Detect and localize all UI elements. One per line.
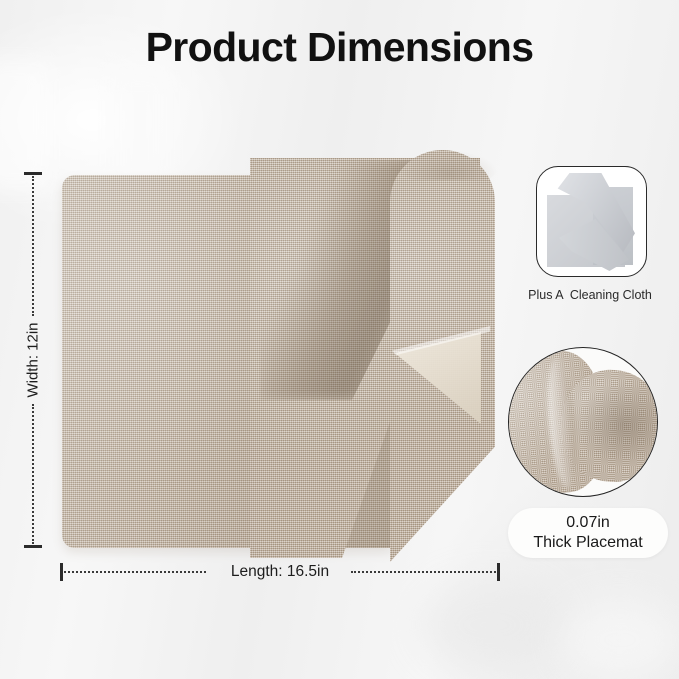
thickness-caption: Thick Placemat <box>533 533 642 553</box>
background-blur-1 <box>420 580 560 670</box>
width-tick-top <box>24 172 42 175</box>
page-title: Product Dimensions <box>0 24 679 71</box>
length-tick-right <box>497 563 500 581</box>
width-dimension-line: Width: 12in <box>32 172 34 548</box>
length-dimension-line: Length: 16.5in <box>60 571 500 573</box>
width-tick-bottom <box>24 545 42 548</box>
background-blur-2 <box>560 600 679 679</box>
roll-top-cap-shadow <box>400 150 498 180</box>
thickness-value: 0.07in <box>566 513 610 533</box>
cleaning-cloth-card <box>536 166 647 277</box>
product-dimensions-infographic: Product Dimensions Width: 12in Length: 1… <box>0 0 679 679</box>
cleaning-cloth-caption: Plus A Cleaning Cloth <box>500 288 679 302</box>
thickness-detail-circle <box>508 347 658 497</box>
width-dotted-upper <box>32 176 34 316</box>
curl-shading <box>509 348 657 496</box>
placemat-rolled-section <box>250 150 540 570</box>
thickness-label-pill: 0.07in Thick Placemat <box>508 508 668 558</box>
length-dotted-left <box>64 571 206 573</box>
length-dotted-right <box>351 571 496 573</box>
width-label: Width: 12in <box>25 322 42 397</box>
length-label: Length: 16.5in <box>231 563 329 581</box>
background-band-1 <box>0 60 50 190</box>
length-tick-left <box>60 563 63 581</box>
width-dotted-lower <box>32 404 34 544</box>
background-band-2 <box>110 70 170 190</box>
